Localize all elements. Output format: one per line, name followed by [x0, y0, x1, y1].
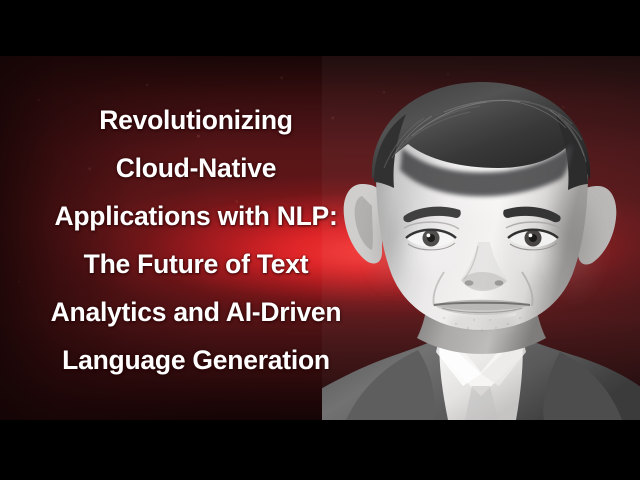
- video-thumbnail: Revolutionizing Cloud-Native Application…: [0, 0, 640, 480]
- presenter-portrait-image: [322, 56, 640, 420]
- letterbox-bar-top: [0, 0, 640, 56]
- letterbox-bar-bottom: [0, 420, 640, 480]
- thumbnail-content-band: Revolutionizing Cloud-Native Application…: [0, 56, 640, 420]
- presenter-portrait: [322, 56, 640, 420]
